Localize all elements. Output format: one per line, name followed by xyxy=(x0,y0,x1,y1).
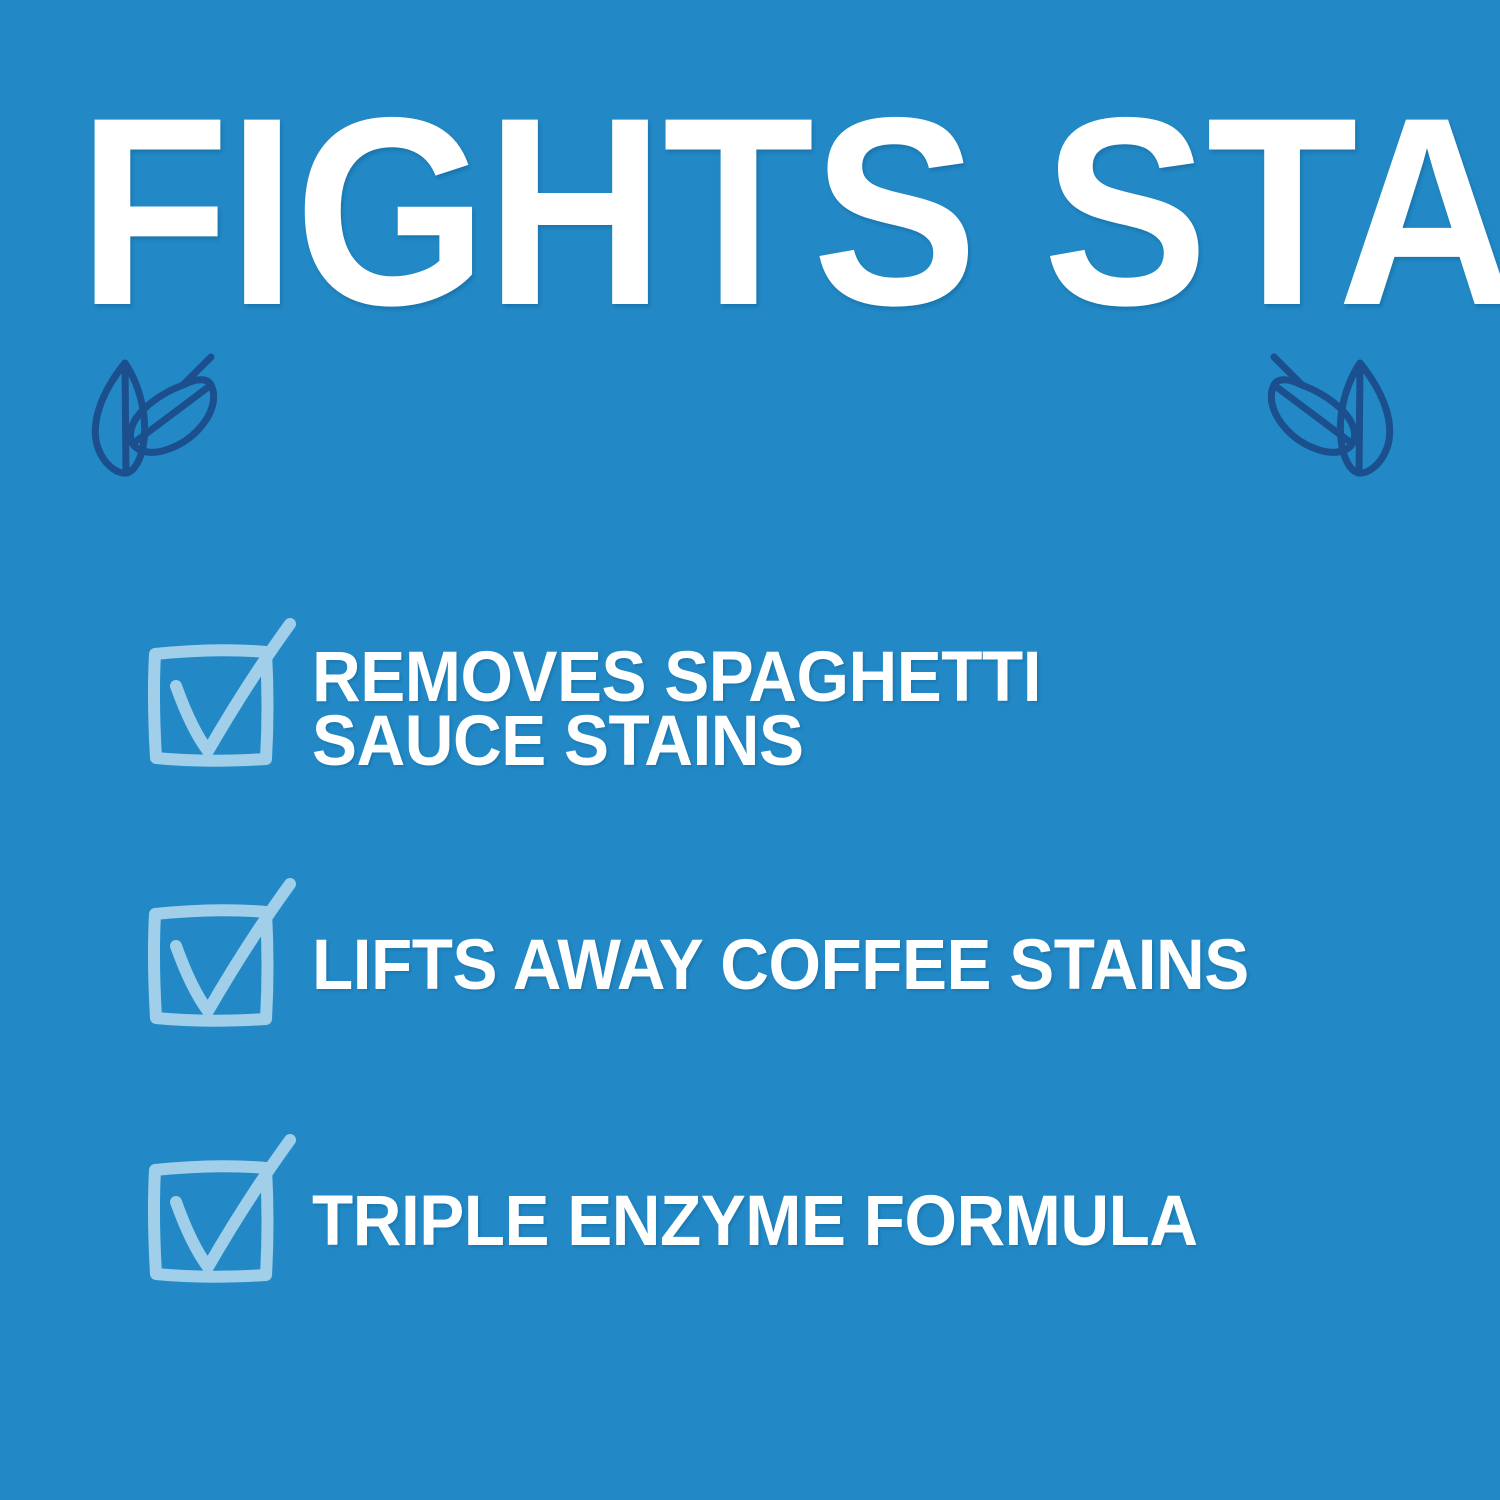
checkbox-checked-icon xyxy=(138,1128,313,1318)
benefit-list: REMOVES SPAGHETTI SAUCE STAINS LIFTS AWA… xyxy=(0,0,1500,1500)
benefit-label: TRIPLE ENZYME FORMULA xyxy=(312,1190,1357,1254)
benefit-label-line: REMOVES SPAGHETTI xyxy=(312,646,1357,710)
checkbox-checked-icon xyxy=(138,612,313,802)
product-feature-poster: FIGHTS STAINS xyxy=(0,0,1500,1500)
benefit-label-line: SAUCE STAINS xyxy=(312,710,1357,774)
list-item: TRIPLE ENZYME FORMULA xyxy=(138,1128,1418,1318)
benefit-label: REMOVES SPAGHETTI SAUCE STAINS xyxy=(312,646,1357,774)
benefit-label: LIFTS AWAY COFFEE STAINS xyxy=(312,934,1357,998)
checkbox-checked-icon xyxy=(138,872,313,1062)
list-item: REMOVES SPAGHETTI SAUCE STAINS xyxy=(138,612,1418,802)
list-item: LIFTS AWAY COFFEE STAINS xyxy=(138,872,1418,1062)
benefit-label-line: LIFTS AWAY COFFEE STAINS xyxy=(312,934,1357,998)
benefit-label-line: TRIPLE ENZYME FORMULA xyxy=(312,1190,1357,1254)
